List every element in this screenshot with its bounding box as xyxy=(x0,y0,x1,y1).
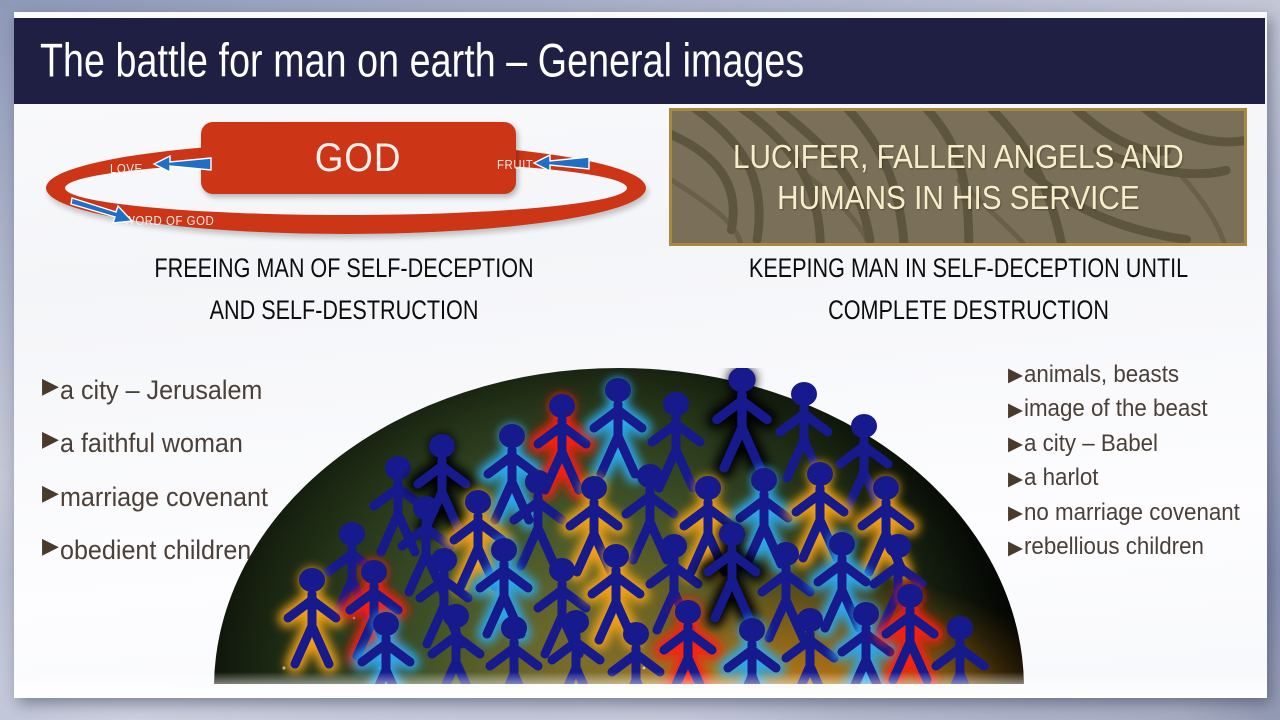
person-figure xyxy=(656,596,720,684)
person-figure xyxy=(280,564,344,668)
god-box: GOD xyxy=(201,122,516,194)
god-box-text: GOD xyxy=(315,136,402,181)
list-item-label: marriage covenant xyxy=(60,471,268,524)
list-item-label: a faithful woman xyxy=(60,417,243,470)
list-item[interactable]: ▶a city – Jerusalem xyxy=(42,364,372,417)
page-title: The battle for man on earth – General im… xyxy=(40,37,995,84)
list-item-label: animals, beasts xyxy=(1024,358,1179,393)
bullet-triangle-icon: ▶ xyxy=(1008,462,1023,496)
arrow-left-icon xyxy=(150,153,212,175)
page-title-text: The battle for man on earth – General im… xyxy=(40,37,804,84)
subtitle-left: FREEING MAN OF SELF-DECEPTION AND SELF-D… xyxy=(54,248,634,332)
ring-label-word-of-god: WORD OF GOD xyxy=(124,213,227,228)
ring-label-love: LOVE xyxy=(110,161,147,176)
list-item-label: obedient children xyxy=(60,524,251,577)
card-bottom-fade xyxy=(14,672,1267,698)
subtitle-left-line-1: FREEING MAN OF SELF-DECEPTION xyxy=(154,248,533,290)
slide-card: The battle for man on earth – General im… xyxy=(14,12,1267,698)
list-item[interactable]: ▶no marriage covenant xyxy=(1008,496,1267,531)
lucifer-box: LUCIFER, FALLEN ANGELS AND HUMANS IN HIS… xyxy=(669,108,1247,246)
subtitle-left-line-2: AND SELF-DESTRUCTION xyxy=(210,290,479,332)
list-item-label: a city – Babel xyxy=(1024,427,1158,462)
bullet-triangle-icon: ▶ xyxy=(42,524,59,568)
list-item-label: no marriage covenant xyxy=(1024,496,1240,531)
list-item[interactable]: ▶a faithful woman xyxy=(42,417,372,470)
bullet-triangle-icon: ▶ xyxy=(1008,358,1023,392)
list-item[interactable]: ▶marriage covenant xyxy=(42,471,372,524)
bullet-triangle-icon: ▶ xyxy=(42,417,59,461)
right-bullet-list: ▶animals, beasts▶image of the beast▶a ci… xyxy=(1008,358,1267,565)
slide-title-bar: The battle for man on earth – General im… xyxy=(14,18,1265,104)
subtitle-right: KEEPING MAN IN SELF-DECEPTION UNTIL COMP… xyxy=(679,248,1259,332)
subtitle-right-line-2: COMPLETE DESTRUCTION xyxy=(829,290,1110,332)
list-item[interactable]: ▶a city – Babel xyxy=(1008,427,1267,462)
bullet-triangle-icon: ▶ xyxy=(1008,496,1023,530)
list-item-label: rebellious children xyxy=(1024,531,1204,566)
bullet-triangle-icon: ▶ xyxy=(1008,427,1023,461)
lucifer-line-1: LUCIFER, FALLEN ANGELS AND xyxy=(733,136,1184,177)
bullet-triangle-icon: ▶ xyxy=(42,364,59,408)
list-item[interactable]: ▶rebellious children xyxy=(1008,531,1267,566)
list-item-label: a harlot xyxy=(1024,462,1098,497)
bullet-triangle-icon: ▶ xyxy=(1008,531,1023,565)
list-item[interactable]: ▶obedient children xyxy=(42,524,372,577)
list-item-label: image of the beast xyxy=(1024,393,1208,428)
subtitle-right-line-1: KEEPING MAN IN SELF-DECEPTION UNTIL xyxy=(749,248,1188,290)
arrow-left-icon-fruit xyxy=(530,152,590,174)
bullet-triangle-icon: ▶ xyxy=(1008,393,1023,427)
list-item[interactable]: ▶image of the beast xyxy=(1008,393,1267,428)
list-item[interactable]: ▶animals, beasts xyxy=(1008,358,1267,393)
arrow-right-icon xyxy=(70,194,136,226)
list-item[interactable]: ▶a harlot xyxy=(1008,462,1267,497)
lucifer-line-2: HUMANS IN HIS SERVICE xyxy=(777,177,1140,218)
bullet-triangle-icon: ▶ xyxy=(42,471,59,515)
god-box-label: GOD xyxy=(201,122,516,194)
list-item-label: a city – Jerusalem xyxy=(60,364,262,417)
left-bullet-list: ▶a city – Jerusalem▶a faithful woman▶mar… xyxy=(42,364,372,578)
lucifer-box-text: LUCIFER, FALLEN ANGELS AND HUMANS IN HIS… xyxy=(672,111,1244,243)
person-figure xyxy=(708,368,775,472)
